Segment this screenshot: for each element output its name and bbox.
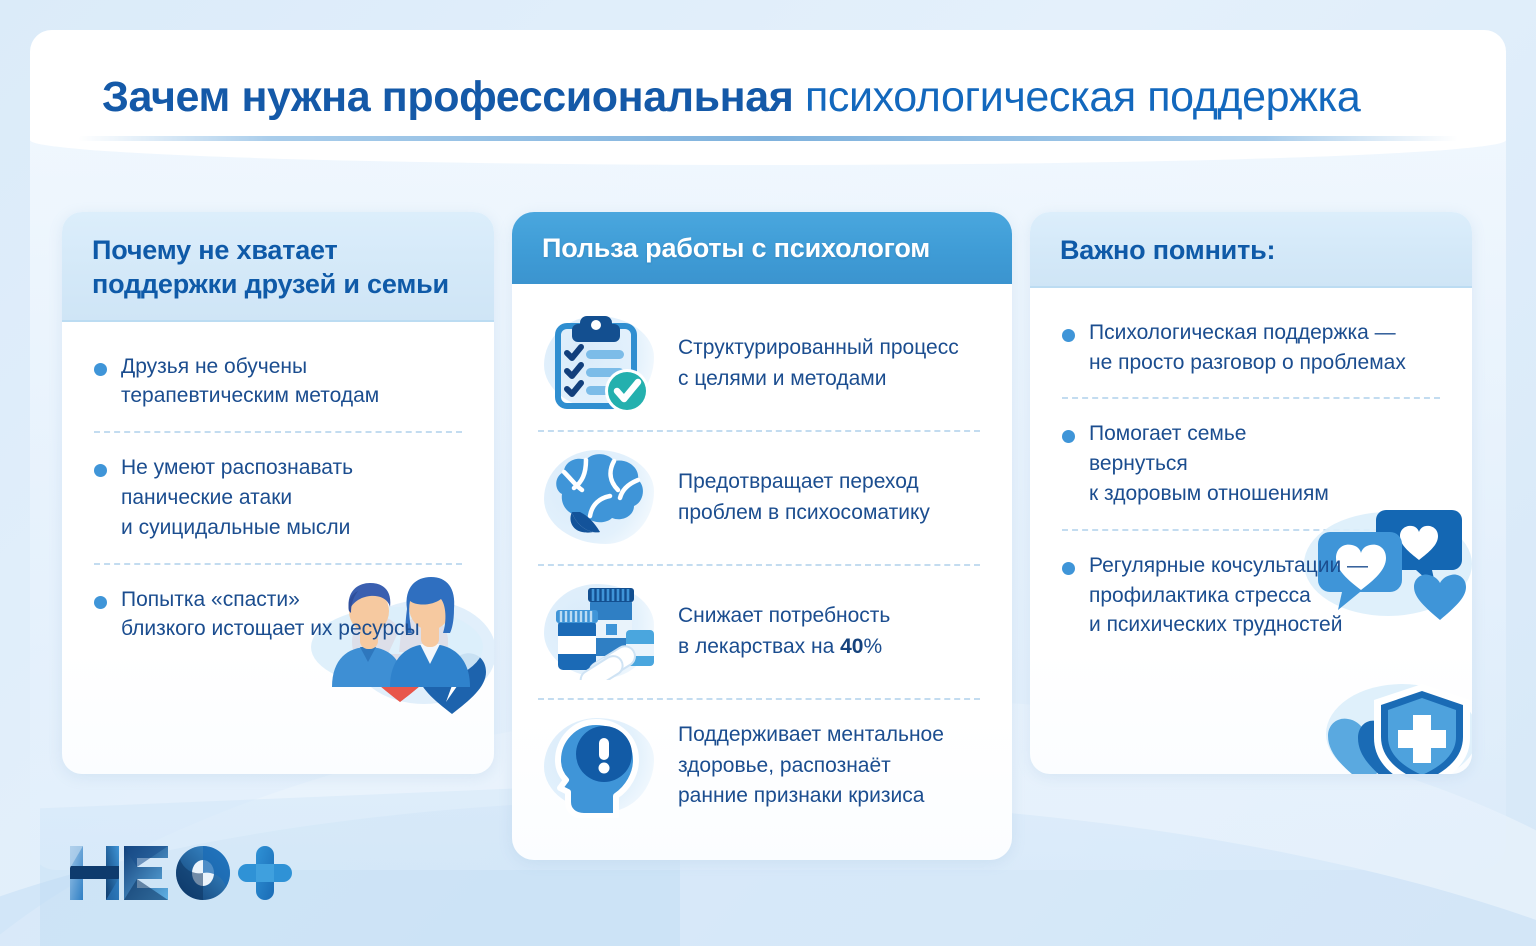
bullet-dot-icon bbox=[1062, 430, 1075, 443]
page-title-bold: Зачем нужна профессиональная bbox=[102, 73, 793, 121]
column-benefits-of-psychologist: Польза работы с психологом bbox=[512, 212, 1012, 860]
infographic-canvas: Зачем нужна профессиональная психологиче… bbox=[0, 0, 1536, 946]
shield-hearts-illustration bbox=[1312, 674, 1472, 774]
list-item-label: Снижает потребность в лекарствах на 40% bbox=[678, 601, 890, 662]
brand-logo bbox=[68, 838, 298, 908]
head-exclamation-icon bbox=[542, 714, 662, 818]
list-item: Снижает потребность в лекарствах на 40% bbox=[536, 566, 986, 698]
column-body-middle: Структурированный процесс с целями и мет… bbox=[512, 284, 1012, 860]
list-item: Предотвращает переход проблем в психосом… bbox=[536, 432, 986, 564]
list-item-label: Друзья не обучены терапевтическим метода… bbox=[121, 352, 379, 412]
title-underline bbox=[78, 136, 1458, 141]
page-title-light: психологическая поддержка bbox=[793, 73, 1360, 121]
list-item: Регулярные кочсультации — профилактика с… bbox=[1060, 531, 1446, 660]
list-item-label: Помогает семье вернуться к здоровым отно… bbox=[1089, 419, 1329, 508]
list-item: Психологическая поддержка — не просто ра… bbox=[1060, 298, 1446, 398]
benefit-unit: % bbox=[863, 635, 882, 658]
column-body-right: Психологическая поддержка — не просто ра… bbox=[1030, 288, 1472, 687]
list-item-label: Регулярные кочсультации — профилактика с… bbox=[1089, 551, 1368, 640]
list-item-label: Поддерживает ментальное здоровье, распоз… bbox=[678, 720, 944, 811]
column-why-friends-family-not-enough: Почему не хватает поддержки друзей и сем… bbox=[62, 212, 494, 774]
list-item: Структурированный процесс с целями и мет… bbox=[536, 298, 986, 430]
list-item: Друзья не обучены терапевтическим метода… bbox=[92, 332, 468, 432]
bullet-dot-icon bbox=[94, 464, 107, 477]
column-header-right-title: Важно помнить: bbox=[1060, 234, 1446, 268]
list-item-label: Попытка «спасти» близкого истощает их ре… bbox=[121, 585, 420, 645]
title-card: Зачем нужна профессиональная психологиче… bbox=[30, 30, 1506, 165]
columns-container: Почему не хватает поддержки друзей и сем… bbox=[62, 212, 1474, 860]
column-header-middle-title: Польза работы с психологом bbox=[542, 232, 986, 266]
list-item-label: Структурированный процесс с целями и мет… bbox=[678, 333, 959, 394]
list-item: Не умеют распознавать панические атаки и… bbox=[92, 433, 468, 562]
column-header-right: Важно помнить: bbox=[1030, 212, 1472, 288]
bullet-dot-icon bbox=[1062, 329, 1075, 342]
benefit-value: 40 bbox=[840, 635, 863, 658]
column-important-to-remember: Важно помнить: Психологическая поддержка… bbox=[1030, 212, 1472, 774]
list-item-label: Психологическая поддержка — не просто ра… bbox=[1089, 318, 1406, 378]
list-item: Помогает семье вернуться к здоровым отно… bbox=[1060, 399, 1446, 528]
list-item: Попытка «спасти» близкого истощает их ре… bbox=[92, 565, 468, 665]
column-header-left-title: Почему не хватает поддержки друзей и сем… bbox=[92, 234, 468, 302]
column-header-left: Почему не хватает поддержки друзей и сем… bbox=[62, 212, 494, 322]
bullet-dot-icon bbox=[1062, 562, 1075, 575]
list-item-label: Предотвращает переход проблем в психосом… bbox=[678, 467, 930, 528]
bullet-dot-icon bbox=[94, 363, 107, 376]
list-item-label: Не умеют распознавать панические атаки и… bbox=[121, 453, 353, 542]
brain-icon bbox=[542, 446, 662, 550]
clipboard-checklist-icon bbox=[542, 312, 662, 416]
page-title: Зачем нужна профессиональная психологиче… bbox=[102, 76, 1360, 119]
pills-bottles-icon bbox=[542, 580, 662, 684]
column-body-left: Друзья не обучены терапевтическим метода… bbox=[62, 322, 494, 691]
list-item: Поддерживает ментальное здоровье, распоз… bbox=[536, 700, 986, 832]
column-header-middle: Польза работы с психологом bbox=[512, 212, 1012, 284]
bullet-dot-icon bbox=[94, 596, 107, 609]
